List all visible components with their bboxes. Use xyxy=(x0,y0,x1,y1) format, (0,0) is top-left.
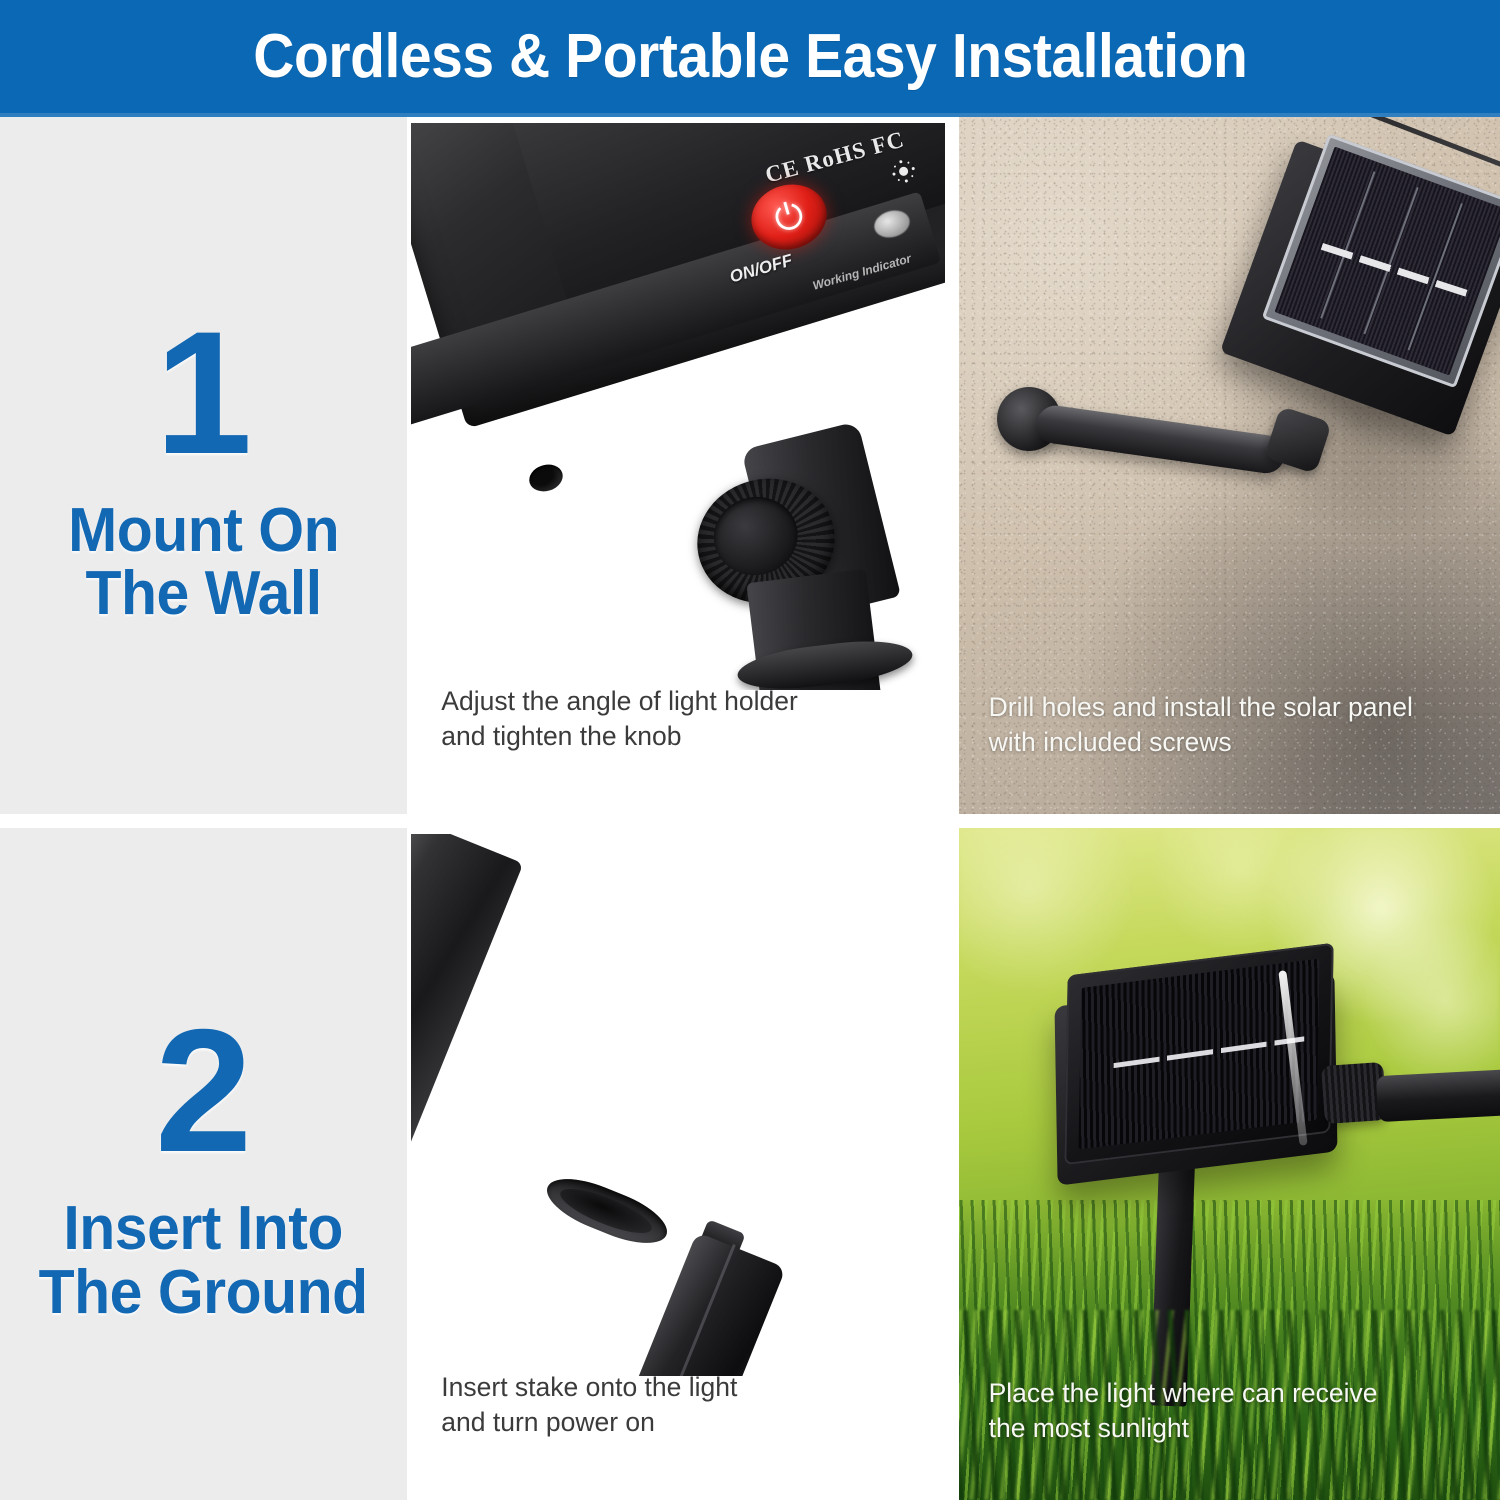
power-cable xyxy=(1376,1068,1500,1122)
photo-caption-3: Insert stake onto the light and turn pow… xyxy=(441,1370,737,1440)
column-gap xyxy=(949,117,959,814)
photo-cell-4: Place the light where can receive the mo… xyxy=(959,828,1500,1500)
step-row-1: 1 Mount On The Wall CE RoHS FC ⏻ ON/OFF … xyxy=(0,117,1500,814)
step-panel-1: 1 Mount On The Wall xyxy=(0,117,407,814)
photo-wall-mounted-panel: Drill holes and install the solar panel … xyxy=(959,117,1500,814)
header-banner: Cordless & Portable Easy Installation xyxy=(0,0,1500,113)
row-divider xyxy=(0,814,1500,828)
step-title-2: Insert Into The Ground xyxy=(39,1197,368,1323)
solar-busbar xyxy=(1113,1036,1304,1068)
photo-caption-4: Place the light where can receive the mo… xyxy=(989,1376,1378,1446)
photo-caption-1: Adjust the angle of light holder and tig… xyxy=(441,684,798,754)
step-number-2: 2 xyxy=(155,1004,252,1179)
step-title-1: Mount On The Wall xyxy=(68,499,339,625)
column-gap xyxy=(949,828,959,1500)
light-pole-tube xyxy=(411,834,523,1234)
photo-light-head: CE RoHS FC ⏻ ON/OFF Working Indicator Ad… xyxy=(411,123,944,808)
page-title: Cordless & Portable Easy Installation xyxy=(253,21,1247,92)
step-row-2: 2 Insert Into The Ground Insert stake on… xyxy=(0,828,1500,1500)
photo-cell-2: Drill holes and install the solar panel … xyxy=(959,117,1500,814)
photo-caption-2: Drill holes and install the solar panel … xyxy=(989,690,1413,760)
photo-pole-and-stake: Insert stake onto the light and turn pow… xyxy=(411,834,944,1494)
installation-infographic: Cordless & Portable Easy Installation 1 … xyxy=(0,0,1500,1500)
photo-cell-1: CE RoHS FC ⏻ ON/OFF Working Indicator Ad… xyxy=(407,117,948,814)
photo-cell-3: Insert stake onto the light and turn pow… xyxy=(407,828,948,1500)
photo-panel-in-grass: Place the light where can receive the mo… xyxy=(959,828,1500,1500)
step-panel-2: 2 Insert Into The Ground xyxy=(0,828,407,1500)
mounting-hole xyxy=(526,461,566,496)
step-number-1: 1 xyxy=(155,306,252,481)
power-icon: ⏻ xyxy=(771,196,808,238)
